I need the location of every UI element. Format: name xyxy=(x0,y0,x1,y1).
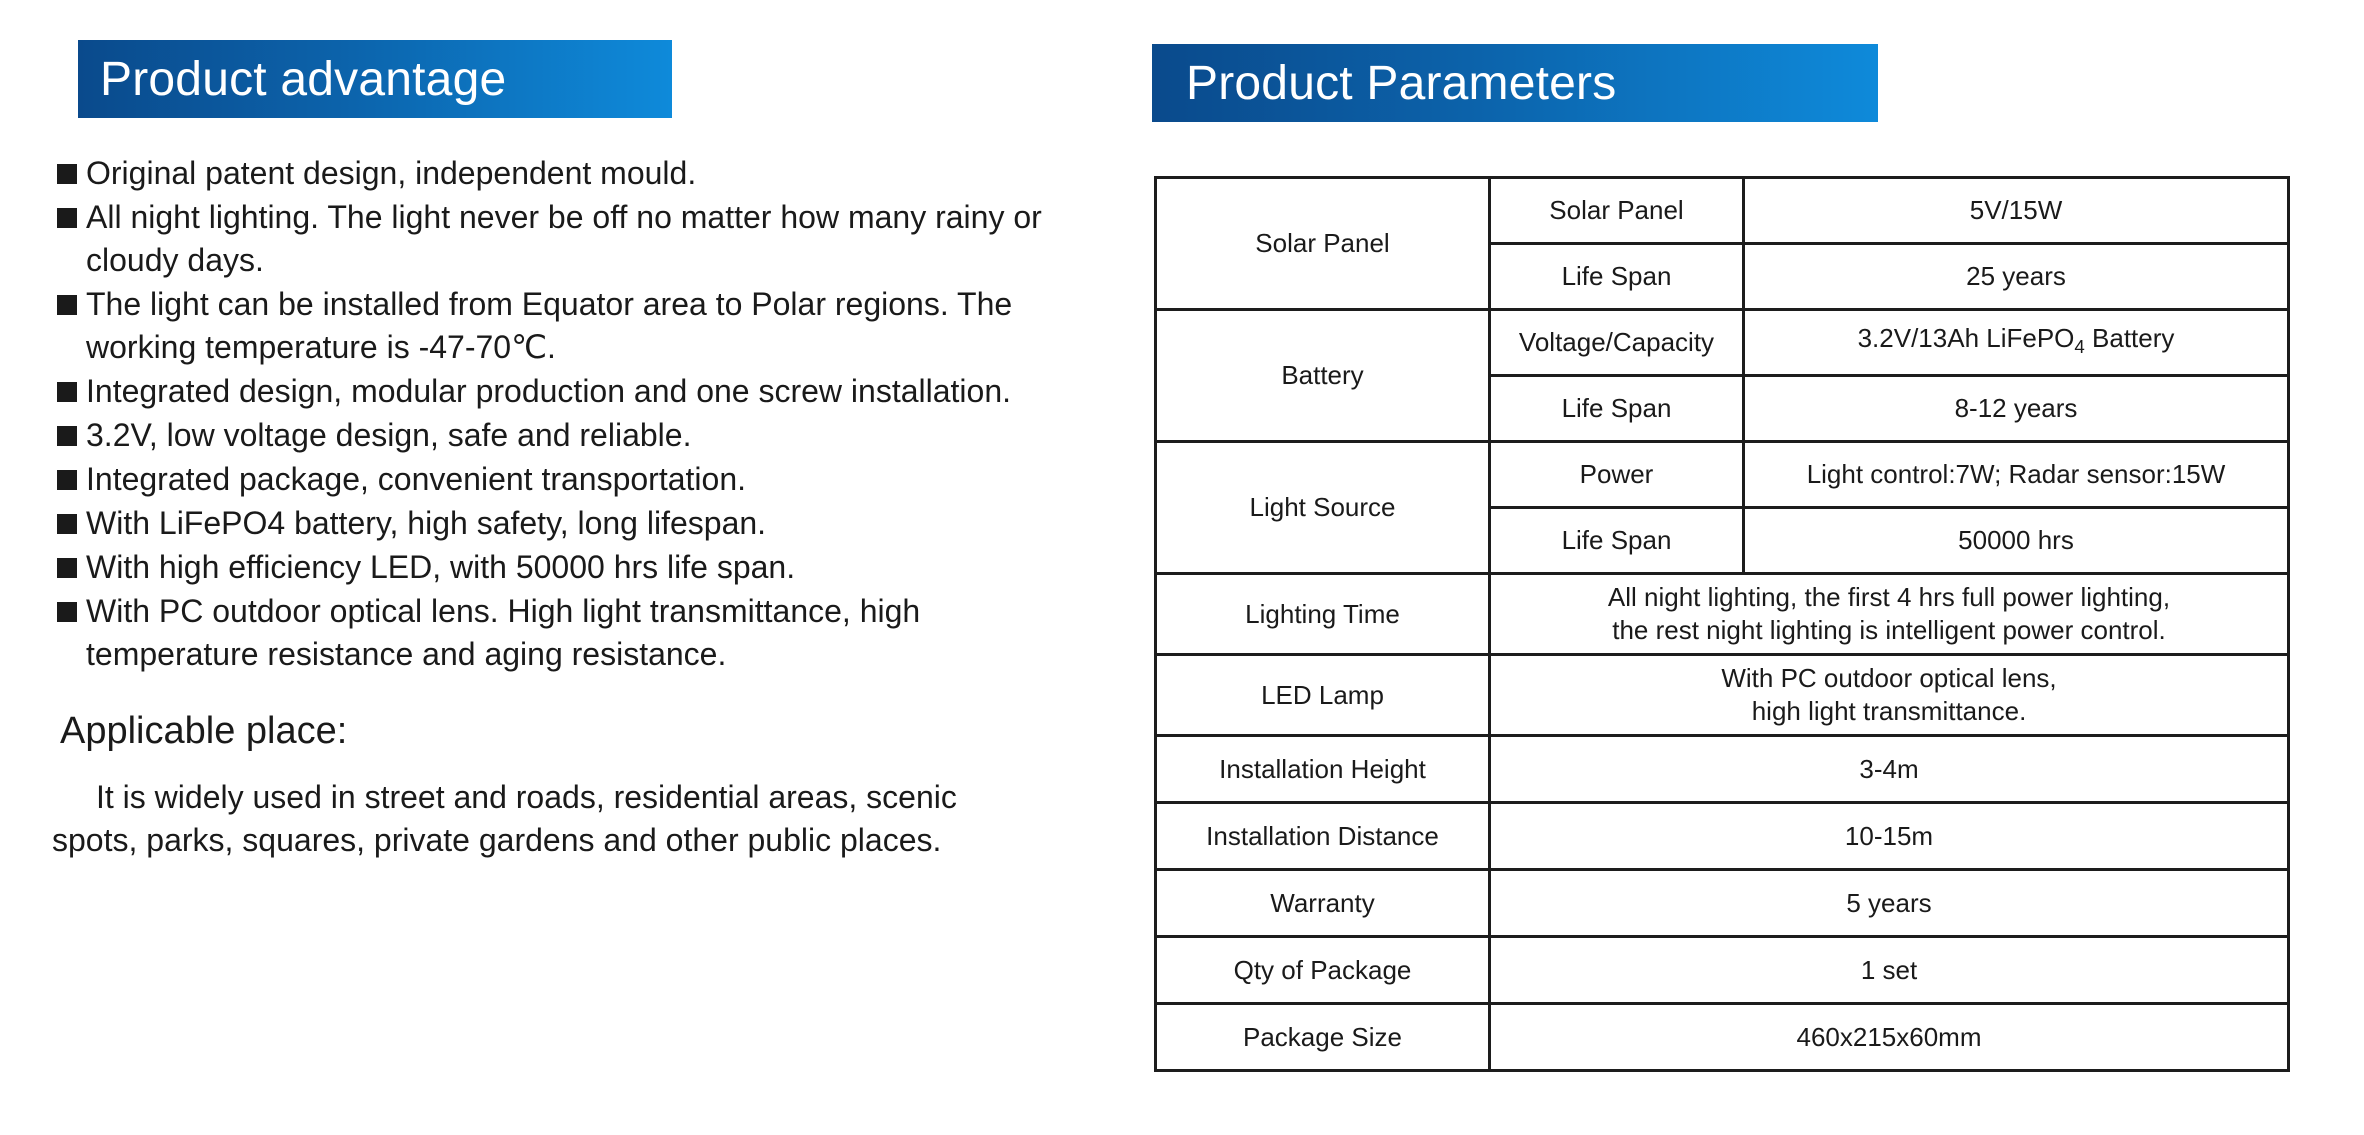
advantage-text: Original patent design, independent moul… xyxy=(86,155,696,191)
square-bullet-icon xyxy=(57,382,77,402)
list-item: Integrated package, convenient transport… xyxy=(52,458,1072,501)
advantage-text: All night lighting. The light never be o… xyxy=(86,199,1042,278)
cell-category: Installation Distance xyxy=(1156,803,1490,870)
advantage-text: Integrated package, convenient transport… xyxy=(86,461,746,497)
cell-category: Qty of Package xyxy=(1156,937,1490,1004)
cell-value: 25 years xyxy=(1744,244,2289,310)
table-row: Warranty 5 years xyxy=(1156,870,2289,937)
value-subscript: 4 xyxy=(2074,336,2084,357)
value-line-1: With PC outdoor optical lens, xyxy=(1497,662,2281,695)
cell-value: 3.2V/13Ah LiFePO4 Battery xyxy=(1744,310,2289,376)
cell-category: Light Source xyxy=(1156,442,1490,574)
advantage-text: 3.2V, low voltage design, safe and relia… xyxy=(86,417,691,453)
cell-value: Light control:7W; Radar sensor:15W xyxy=(1744,442,2289,508)
value-line-2: high light transmittance. xyxy=(1497,695,2281,728)
cell-subitem: Voltage/Capacity xyxy=(1490,310,1744,376)
cell-value: 1 set xyxy=(1490,937,2289,1004)
banner-product-parameters: Product Parameters xyxy=(1152,44,1878,122)
table-row: Installation Distance 10-15m xyxy=(1156,803,2289,870)
list-item: All night lighting. The light never be o… xyxy=(52,196,1072,282)
square-bullet-icon xyxy=(57,602,77,622)
square-bullet-icon xyxy=(57,208,77,228)
cell-value: With PC outdoor optical lens, high light… xyxy=(1490,655,2289,736)
cell-subitem: Power xyxy=(1490,442,1744,508)
square-bullet-icon xyxy=(57,426,77,446)
cell-subitem: Life Span xyxy=(1490,508,1744,574)
table-row: Lighting Time All night lighting, the fi… xyxy=(1156,574,2289,655)
cell-value: 50000 hrs xyxy=(1744,508,2289,574)
list-item: With PC outdoor optical lens. High light… xyxy=(52,590,1072,676)
value-suffix: Battery xyxy=(2085,323,2175,353)
list-item: Original patent design, independent moul… xyxy=(52,152,1072,195)
product-spec-page: Product advantage Product Parameters Ori… xyxy=(0,0,2364,1135)
list-item: With high efficiency LED, with 50000 hrs… xyxy=(52,546,1072,589)
square-bullet-icon xyxy=(57,558,77,578)
table-row: LED Lamp With PC outdoor optical lens, h… xyxy=(1156,655,2289,736)
list-item: 3.2V, low voltage design, safe and relia… xyxy=(52,414,1072,457)
cell-subitem: Life Span xyxy=(1490,376,1744,442)
advantage-text: Integrated design, modular production an… xyxy=(86,373,1011,409)
advantage-text: With high efficiency LED, with 50000 hrs… xyxy=(86,549,795,585)
spec-table-container: Solar Panel Solar Panel 5V/15W Life Span… xyxy=(1154,176,2290,1072)
value-prefix: 3.2V/13Ah LiFePO xyxy=(1858,323,2075,353)
cell-value: All night lighting, the first 4 hrs full… xyxy=(1490,574,2289,655)
value-line-2: the rest night lighting is intelligent p… xyxy=(1497,614,2281,647)
square-bullet-icon xyxy=(57,514,77,534)
cell-category: Installation Height xyxy=(1156,736,1490,803)
advantage-text: With LiFePO4 battery, high safety, long … xyxy=(86,505,766,541)
cell-value: 3-4m xyxy=(1490,736,2289,803)
square-bullet-icon xyxy=(57,470,77,490)
advantage-text: With PC outdoor optical lens. High light… xyxy=(86,593,920,672)
list-item: Integrated design, modular production an… xyxy=(52,370,1072,413)
cell-category: Battery xyxy=(1156,310,1490,442)
banner-parameters-title: Product Parameters xyxy=(1152,56,1616,111)
cell-category: Package Size xyxy=(1156,1004,1490,1071)
cell-category: Warranty xyxy=(1156,870,1490,937)
cell-value: 5V/15W xyxy=(1744,178,2289,244)
cell-category: Solar Panel xyxy=(1156,178,1490,310)
cell-value: 460x215x60mm xyxy=(1490,1004,2289,1071)
cell-value: 10-15m xyxy=(1490,803,2289,870)
advantages-list: Original patent design, independent moul… xyxy=(52,152,1072,676)
list-item: The light can be installed from Equator … xyxy=(52,283,1072,369)
applicable-place-body: It is widely used in street and roads, r… xyxy=(52,776,1032,862)
square-bullet-icon xyxy=(57,164,77,184)
banner-advantage-title: Product advantage xyxy=(78,52,506,107)
banner-product-advantage: Product advantage xyxy=(78,40,672,118)
applicable-place-title: Applicable place: xyxy=(60,706,1072,756)
cell-subitem: Solar Panel xyxy=(1490,178,1744,244)
table-row: Installation Height 3-4m xyxy=(1156,736,2289,803)
cell-value: 8-12 years xyxy=(1744,376,2289,442)
list-item: With LiFePO4 battery, high safety, long … xyxy=(52,502,1072,545)
table-row: Package Size 460x215x60mm xyxy=(1156,1004,2289,1071)
table-row: Solar Panel Solar Panel 5V/15W xyxy=(1156,178,2289,244)
square-bullet-icon xyxy=(57,295,77,315)
product-parameters-table: Solar Panel Solar Panel 5V/15W Life Span… xyxy=(1154,176,2290,1072)
cell-category: Lighting Time xyxy=(1156,574,1490,655)
advantages-column: Original patent design, independent moul… xyxy=(52,152,1072,862)
value-line-1: All night lighting, the first 4 hrs full… xyxy=(1497,581,2281,614)
table-row: Qty of Package 1 set xyxy=(1156,937,2289,1004)
cell-subitem: Life Span xyxy=(1490,244,1744,310)
cell-value: 5 years xyxy=(1490,870,2289,937)
cell-category: LED Lamp xyxy=(1156,655,1490,736)
table-row: Light Source Power Light control:7W; Rad… xyxy=(1156,442,2289,508)
advantage-text: The light can be installed from Equator … xyxy=(86,286,1012,365)
table-row: Battery Voltage/Capacity 3.2V/13Ah LiFeP… xyxy=(1156,310,2289,376)
